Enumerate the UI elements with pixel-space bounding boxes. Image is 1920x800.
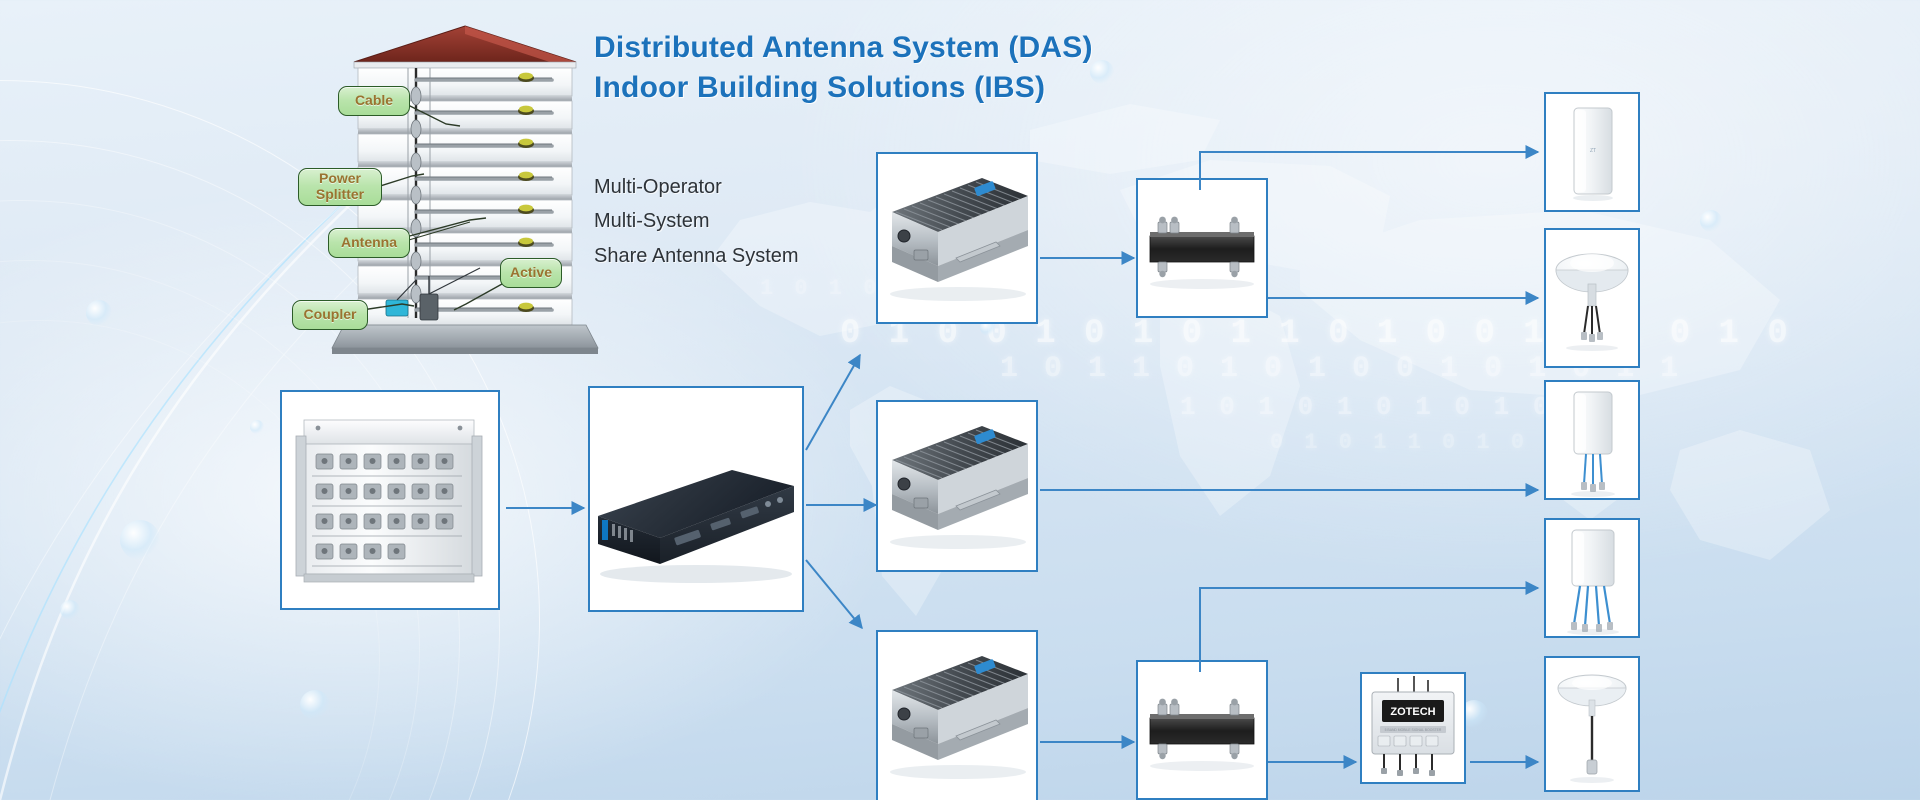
feature-item-multi-system: Multi-System: [594, 204, 799, 238]
panel-antenna-top-frame[interactable]: ZT: [1544, 92, 1640, 212]
callout-active-label: Active: [510, 265, 552, 281]
leader-active: [452, 284, 512, 318]
callout-antenna: Antenna: [328, 228, 410, 258]
leader-cable: [400, 96, 470, 132]
callout-antenna-label: Antenna: [341, 235, 397, 251]
binary-watermark-5: 0 1 0 1 1 0 1 0: [1270, 430, 1528, 455]
remote-unit-middle-frame[interactable]: [876, 400, 1038, 572]
feature-item-multi-operator: Multi-Operator: [594, 170, 799, 204]
combiner-bottom-frame[interactable]: [1136, 660, 1268, 800]
ceiling-antenna-top-frame[interactable]: [1544, 228, 1640, 368]
feature-item-share-antenna-system: Share Antenna System: [594, 239, 799, 273]
poi-rack-frame[interactable]: [280, 390, 500, 610]
remote-unit-top-frame[interactable]: [876, 152, 1038, 324]
svg-text:5 BAND MOBILE SIGNAL BOOSTER: 5 BAND MOBILE SIGNAL BOOSTER: [1385, 728, 1442, 732]
panel-antenna-middle-frame[interactable]: [1544, 380, 1640, 500]
callout-cable: Cable: [338, 86, 410, 116]
callout-power-splitter-label-2: Splitter: [316, 187, 364, 203]
page-title: Distributed Antenna System (DAS) Indoor …: [594, 28, 1093, 108]
callout-coupler-label: Coupler: [304, 307, 357, 323]
feature-list: Multi-Operator Multi-System Share Antenn…: [594, 170, 799, 273]
title-line-2: Indoor Building Solutions (IBS): [594, 68, 1093, 108]
remote-unit-bottom-frame[interactable]: [876, 630, 1038, 800]
callout-power-splitter-label-1: Power: [319, 171, 361, 187]
leader-antenna: [400, 212, 500, 252]
combiner-top-frame[interactable]: [1136, 178, 1268, 318]
zotech-brand-text: ZOTECH: [1390, 706, 1435, 718]
zotech-repeater-frame[interactable]: ZOTECH 5 BAND MOBILE SIGNAL BOOSTER: [1360, 672, 1466, 784]
callout-active: Active: [500, 258, 562, 288]
title-line-1: Distributed Antenna System (DAS): [594, 28, 1093, 68]
leader-coupler: [360, 296, 420, 326]
ceiling-antenna-bottom-frame[interactable]: [1544, 656, 1640, 792]
host-unit-frame[interactable]: [588, 386, 804, 612]
panel-antenna-lower-frame[interactable]: [1544, 518, 1640, 638]
svg-text:ZT: ZT: [1590, 148, 1596, 154]
callout-power-splitter: Power Splitter: [298, 168, 382, 206]
callout-coupler: Coupler: [292, 300, 368, 330]
callout-cable-label: Cable: [355, 93, 393, 109]
